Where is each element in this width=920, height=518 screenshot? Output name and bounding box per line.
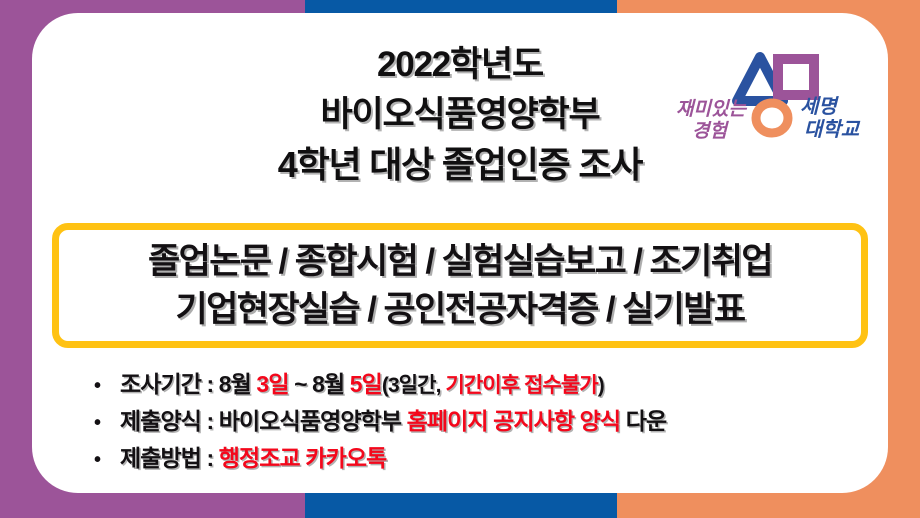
detail-row-form: 제출양식 : 바이오식품영양학부 홈페이지 공지사항 양식 다운 [120,404,666,439]
period-warning: 기간이후 접수불가 [445,374,597,397]
form-label: 제출양식 : 바이오식품영양학부 [120,408,407,434]
period-label: 조사기간 : 8월 [120,371,256,397]
logo-square-icon [778,59,814,95]
method-channel: 행정조교 카카오톡 [219,445,387,471]
graduation-options-box: 졸업논문 / 종합시험 / 실험실습보고 / 조기취업 기업현장실습 / 공인전… [52,223,868,348]
list-item: • 제출방법 : 행정조교 카카오톡 [94,441,884,478]
period-note-open: (3일간, [382,374,446,397]
period-separator: ~ 8월 [289,371,350,397]
university-logo: 재미있는 경험 세명 대학교 [674,35,870,147]
bullet-dot-icon: • [94,406,120,441]
options-line-2: 기업현장실습 / 공인전공자격증 / 실기발표 [176,286,745,334]
details-list: • 조사기간 : 8월 3일 ~ 8월 5일(3일간, 기간이후 접수불가) •… [94,367,884,478]
list-item: • 제출양식 : 바이오식품영양학부 홈페이지 공지사항 양식 다운 [94,404,884,441]
title-line-3: 4학년 대상 졸업인증 조사 [32,140,888,190]
detail-row-method: 제출방법 : 행정조교 카카오톡 [120,441,386,476]
content-card: 2022학년도 바이오식품영양학부 4학년 대상 졸업인증 조사 재 [32,13,888,493]
logo-university-line-1: 세명 [800,96,839,118]
poster-root: 2022학년도 바이오식품영양학부 4학년 대상 졸업인증 조사 재 [0,0,920,518]
detail-row-period: 조사기간 : 8월 3일 ~ 8월 5일(3일간, 기간이후 접수불가) [120,367,604,403]
method-label: 제출방법 : [120,445,219,471]
logo-slogan-line-1: 재미있는 [676,98,747,120]
options-line-1: 졸업논문 / 종합시험 / 실험실습보고 / 조기취업 [148,238,772,286]
period-end-date: 5일 [350,371,382,397]
form-source: 홈페이지 공지사항 양식 [407,408,621,434]
logo-slogan-line-2: 경험 [692,120,729,142]
bullet-dot-icon: • [94,443,120,478]
period-note-close: ) [598,374,604,397]
form-action: 다운 [620,408,666,434]
bullet-dot-icon: • [94,369,120,404]
logo-university-line-2: 대학교 [804,119,861,141]
list-item: • 조사기간 : 8월 3일 ~ 8월 5일(3일간, 기간이후 접수불가) [94,367,884,404]
period-start-date: 3일 [256,371,288,397]
logo-circle-icon [756,103,788,133]
